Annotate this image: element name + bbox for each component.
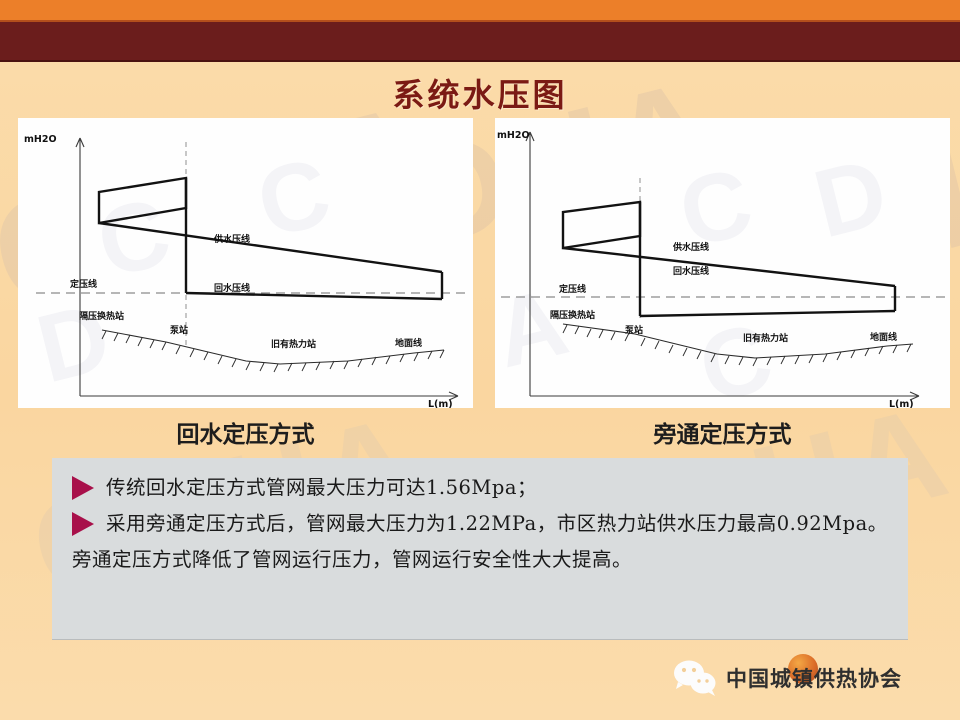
paragraph-3: 旁通定压方式降低了管网运行压力，管网运行安全性大大提高。 [72, 544, 888, 576]
y-axis-label: mH2O [24, 134, 57, 145]
label-isolation-station: 隔压换热站 [79, 310, 124, 322]
label-supply-line: 供水压线 [672, 241, 709, 253]
chart-panel-bypass-mode: C D A C mH2O L(m) [495, 118, 950, 408]
x-axis-label: L(m) [428, 399, 453, 408]
bullet-text-1: 传统回水定压方式管网最大压力可达1.56Mpa； [106, 472, 537, 504]
label-ground-line: 地面线 [870, 331, 897, 343]
caption-left-chart: 回水定压方式 [18, 415, 473, 449]
slide-root: CDHA CDHA CDHA CDHA CDHA 系统水压图 C C D mH2… [0, 0, 960, 720]
page-title: 系统水压图 [0, 70, 960, 116]
header-orange-band [0, 0, 960, 20]
label-pump-station: 泵站 [170, 324, 188, 336]
label-static-line: 定压线 [558, 283, 586, 295]
label-supply-line: 供水压线 [213, 233, 250, 245]
header-maroon-band [0, 22, 960, 60]
triangle-bullet-icon [72, 512, 94, 536]
label-return-line: 回水压线 [214, 282, 250, 294]
label-static-line: 定压线 [69, 278, 97, 290]
bullet-item-2: 采用旁通定压方式后，管网最大压力为1.22MPa，市区热力站供水压力最高0.92… [72, 508, 888, 540]
wechat-icon [672, 658, 718, 698]
org-name: 中国城镇供热协会 [726, 663, 902, 693]
caption-right-chart: 旁通定压方式 [495, 415, 950, 449]
y-axis-label: mH2O [497, 130, 530, 141]
label-ground-line: 地面线 [395, 337, 422, 349]
triangle-bullet-icon [72, 476, 94, 500]
x-axis-label: L(m) [889, 399, 914, 408]
bullet-text-2: 采用旁通定压方式后，管网最大压力为1.22MPa，市区热力站供水压力最高0.92… [106, 508, 888, 540]
org-name-wrap: 中国城镇供热协会 [726, 663, 902, 693]
label-isolation-station: 隔压换热站 [550, 309, 595, 321]
label-old-station: 旧有热力站 [743, 332, 788, 344]
footer-branding: 中国城镇供热协会 [672, 658, 902, 698]
label-old-station: 旧有热力站 [271, 338, 316, 350]
bullet-item-1: 传统回水定压方式管网最大压力可达1.56Mpa； [72, 472, 888, 504]
chart-panel-return-water-mode: C C D mH2O L(m) [18, 118, 473, 408]
header-maroon-edge [0, 60, 960, 62]
body-text-panel: 传统回水定压方式管网最大压力可达1.56Mpa； 采用旁通定压方式后，管网最大压… [52, 458, 908, 640]
label-return-line: 回水压线 [673, 265, 709, 277]
